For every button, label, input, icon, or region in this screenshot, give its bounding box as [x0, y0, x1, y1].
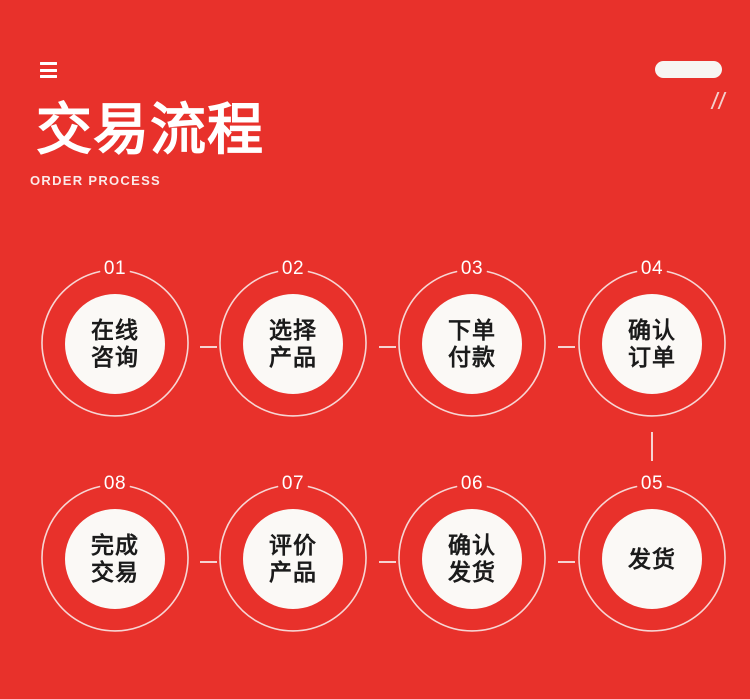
double-slash-decoration-icon: [710, 92, 734, 112]
step-disc: 确认 发货: [422, 509, 522, 609]
connector-03-04: [558, 346, 575, 348]
step-label-line2: 产品: [269, 559, 317, 586]
step-disc: 在线 咨询: [65, 294, 165, 394]
step-number: 04: [576, 258, 728, 280]
flow-row-top: 01 在线 咨询 02 选择 产品: [0, 258, 750, 433]
connector-06-07: [379, 561, 396, 563]
step-label-line2: 交易: [91, 559, 139, 586]
step-08[interactable]: 08 完成 交易: [39, 473, 191, 648]
hamburger-bar-1: [40, 62, 57, 65]
connector-05-06: [558, 561, 575, 563]
step-06[interactable]: 06 确认 发货: [396, 473, 548, 648]
slash-stroke-2: [718, 92, 727, 109]
hamburger-bar-2: [40, 69, 57, 72]
step-label-line2: 发货: [448, 559, 496, 586]
step-label-line2: 付款: [448, 344, 496, 371]
step-label-line1: 发货: [628, 546, 676, 573]
order-process-banner: 交易流程 ORDER PROCESS 01 在线 咨询 02: [0, 0, 750, 699]
step-label-line1: 选择: [269, 317, 317, 344]
step-number: 08: [39, 473, 191, 495]
step-label-line2: 产品: [269, 344, 317, 371]
step-number: 01: [39, 258, 191, 280]
step-number: 03: [396, 258, 548, 280]
hamburger-icon[interactable]: [40, 62, 57, 78]
step-01[interactable]: 01 在线 咨询: [39, 258, 191, 433]
step-label-line2: 订单: [628, 344, 676, 371]
step-label-line1: 在线: [91, 317, 139, 344]
step-disc: 评价 产品: [243, 509, 343, 609]
step-02[interactable]: 02 选择 产品: [217, 258, 369, 433]
page-title: 交易流程: [36, 98, 264, 162]
step-label-line1: 确认: [448, 532, 496, 559]
step-disc: 发货: [602, 509, 702, 609]
step-05[interactable]: 05 发货: [576, 473, 728, 648]
step-disc: 确认 订单: [602, 294, 702, 394]
step-disc: 选择 产品: [243, 294, 343, 394]
step-label-line1: 评价: [269, 532, 317, 559]
rounded-pill-decoration-icon: [655, 61, 722, 78]
step-label-line2: 咨询: [91, 344, 139, 371]
connector-02-03: [379, 346, 396, 348]
connector-01-02: [200, 346, 217, 348]
hamburger-bar-3: [40, 75, 57, 78]
step-label-line1: 完成: [91, 532, 139, 559]
step-number: 06: [396, 473, 548, 495]
step-number: 05: [576, 473, 728, 495]
step-04[interactable]: 04 确认 订单: [576, 258, 728, 433]
step-disc: 下单 付款: [422, 294, 522, 394]
flow-row-bottom: 08 完成 交易 07 评价 产品: [0, 473, 750, 648]
step-label-line1: 确认: [628, 317, 676, 344]
step-label-line1: 下单: [448, 317, 496, 344]
connector-07-08: [200, 561, 217, 563]
connector-04-05: [651, 432, 653, 461]
step-07[interactable]: 07 评价 产品: [217, 473, 369, 648]
step-number: 07: [217, 473, 369, 495]
step-number: 02: [217, 258, 369, 280]
page-subtitle: ORDER PROCESS: [30, 173, 161, 189]
step-03[interactable]: 03 下单 付款: [396, 258, 548, 433]
step-disc: 完成 交易: [65, 509, 165, 609]
